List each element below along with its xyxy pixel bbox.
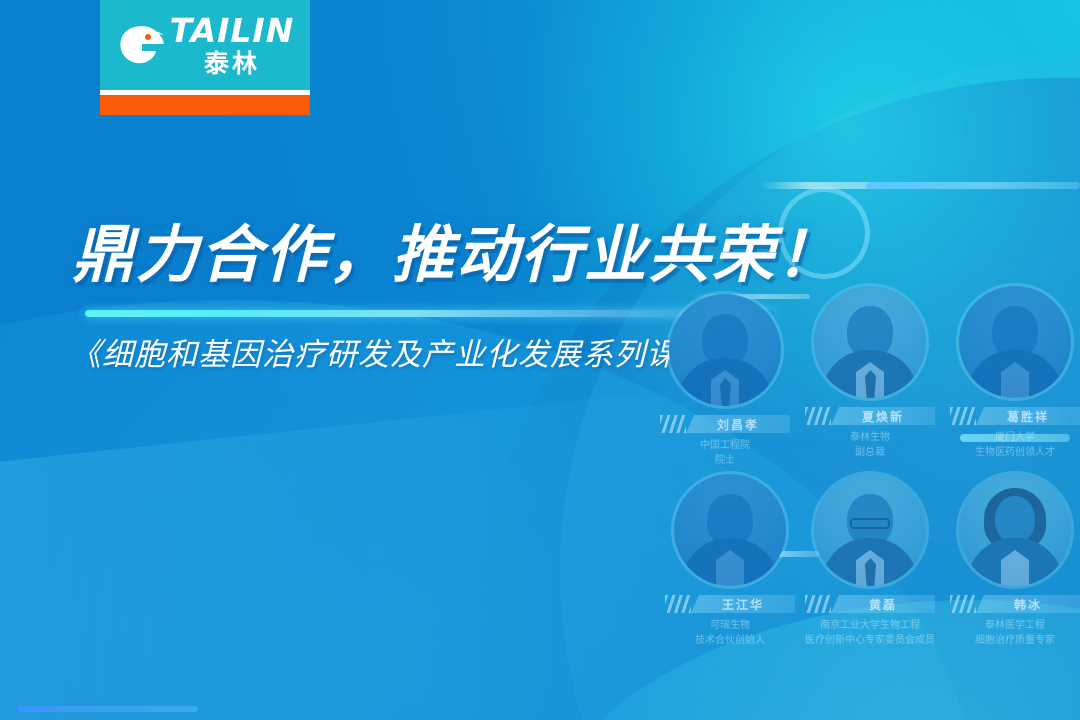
avatar — [814, 474, 926, 586]
avatar — [959, 286, 1071, 398]
speaker-nameplate: 韩冰 — [950, 594, 1080, 614]
avatar — [814, 286, 926, 398]
logo-latin-text: TAILIN — [170, 14, 295, 47]
avatar — [959, 474, 1071, 586]
hatch-decor-icon — [950, 407, 976, 425]
speaker-card: 王江华 可瑞生物 技术合伙创始人 — [665, 474, 795, 648]
page-title: 鼎力合作，推动行业共荣！ — [72, 224, 840, 286]
hatch-decor-icon — [950, 595, 976, 613]
speaker-nameplate: 夏焕新 — [805, 406, 935, 426]
speaker-grid: 刘昌孝 中国工程院 院士 夏焕新 泰林生物 副总裁 — [660, 286, 1080, 666]
speaker-nameplate: 黄磊 — [805, 594, 935, 614]
hatch-decor-icon — [805, 407, 831, 425]
speaker-affiliation: 厦门大学 生物医药创领人才 — [950, 431, 1080, 460]
speaker-name: 韩冰 — [1014, 596, 1042, 613]
speaker-affiliation: 泰林生物 副总裁 — [805, 431, 935, 460]
speaker-nameplate: 葛胜祥 — [950, 406, 1080, 426]
logo-chinese-text: 泰林 — [204, 51, 260, 76]
speaker-card: 刘昌孝 中国工程院 院士 — [660, 294, 790, 468]
speaker-nameplate: 刘昌孝 — [660, 414, 790, 434]
avatar — [674, 474, 786, 586]
logo-orange-bar — [100, 95, 310, 115]
speaker-affiliation: 泰林医学工程 细胞治疗质量专家 — [950, 619, 1080, 648]
brand-logo: TAILIN 泰林 — [100, 0, 310, 115]
speaker-card: 夏焕新 泰林生物 副总裁 — [805, 286, 935, 460]
page-subtitle: 《细胞和基因治疗研发及产业化发展系列课题》 — [70, 329, 742, 374]
speaker-affiliation: 可瑞生物 技术合伙创始人 — [665, 619, 795, 648]
avatar — [669, 294, 781, 406]
hatch-decor-icon — [805, 595, 831, 613]
speaker-nameplate: 王江华 — [665, 594, 795, 614]
speaker-affiliation: 中国工程院 院士 — [660, 439, 790, 468]
speaker-card: 葛胜祥 厦门大学 生物医药创领人才 — [950, 286, 1080, 460]
hatch-decor-icon — [660, 415, 686, 433]
speaker-card: 韩冰 泰林医学工程 细胞治疗质量专家 — [950, 474, 1080, 648]
speaker-name: 王江华 — [722, 596, 764, 613]
promo-banner: TAILIN 泰林 鼎力合作，推动行业共荣！ 《细胞和基因治疗研发及产业化发展系… — [0, 0, 1080, 720]
speaker-name: 夏焕新 — [862, 408, 904, 425]
hatch-decor-icon — [665, 595, 691, 613]
tailin-swoosh-g-icon — [116, 22, 166, 68]
speaker-name: 刘昌孝 — [717, 416, 759, 433]
speaker-affiliation: 南京工业大学生物工程 医疗创新中心专家委员会成员 — [805, 619, 935, 648]
speaker-card: 黄磊 南京工业大学生物工程 医疗创新中心专家委员会成员 — [805, 474, 935, 648]
speaker-name: 黄磊 — [869, 596, 897, 613]
speaker-name: 葛胜祥 — [1007, 408, 1049, 425]
